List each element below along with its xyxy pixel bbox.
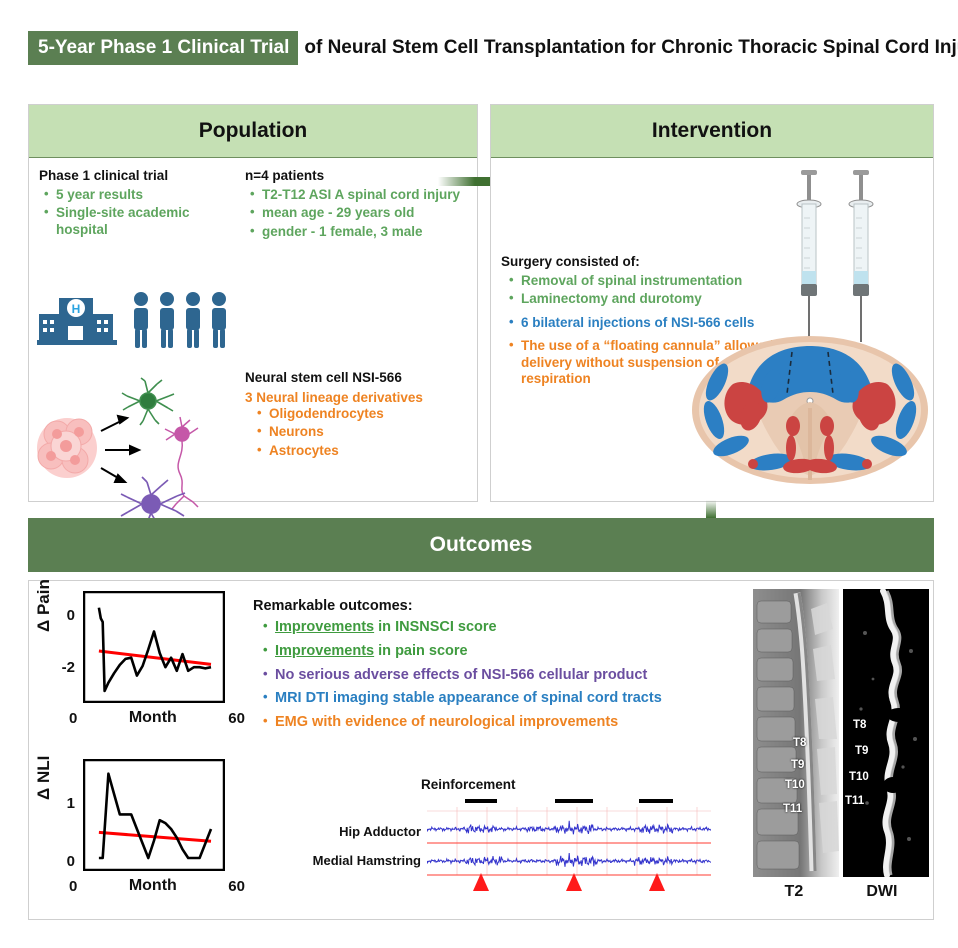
t2-level-T8: T8 bbox=[793, 737, 806, 749]
title-remainder: of Neural Stem Cell Transplantation for … bbox=[298, 38, 958, 58]
delta-pain-ytick-0: 0 bbox=[49, 607, 75, 624]
delta-nli-xtick-0: 0 bbox=[69, 878, 77, 895]
syringe-icon bbox=[771, 166, 901, 346]
outcomes-text-block: Remarkable outcomes: Improvements in INS… bbox=[253, 597, 713, 734]
delta-nli-xtick-1: 60 bbox=[228, 878, 245, 895]
list-item: Single-site academic hospital bbox=[56, 205, 237, 240]
population-panel: Population Phase 1 clinical trial 5 year… bbox=[28, 104, 478, 502]
stem-cell-bullets: Oligodendrocytes Neurons Astrocytes bbox=[245, 406, 471, 461]
stem-cell-heading: Neural stem cell NSI-566 bbox=[245, 370, 471, 387]
outcome-rest-1: in pain score bbox=[374, 643, 467, 659]
graphical-abstract: 5-Year Phase 1 Clinical Trial of Neural … bbox=[0, 0, 958, 948]
emg-trace-svg bbox=[427, 799, 711, 891]
list-item: Laminectomy and durotomy bbox=[521, 291, 791, 309]
outcome-underline-0: Improvements bbox=[275, 619, 374, 635]
figure-title: 5-Year Phase 1 Clinical Trial of Neural … bbox=[28, 28, 934, 68]
list-item: MRI DTI imaging stable appearance of spi… bbox=[275, 690, 713, 710]
list-item: Removal of spinal instrumentation bbox=[521, 273, 791, 291]
delta-nli-plot-area bbox=[83, 759, 225, 871]
t2-level-T9: T9 bbox=[791, 759, 804, 771]
cord-cross-section bbox=[687, 330, 933, 498]
spinal-cord-cross-section-illustration bbox=[687, 330, 933, 498]
intervention-panel: Intervention Surgery consisted of: Remov… bbox=[490, 104, 934, 502]
stem-cell-text-block: Neural stem cell NSI-566 3 Neural lineag… bbox=[245, 370, 471, 461]
emg-traces bbox=[427, 799, 711, 891]
delta-nli-chart: Δ NLI 1 0 bbox=[35, 753, 251, 913]
oligodendrocyte-icon bbox=[122, 378, 174, 425]
list-item: Improvements in INSNSCI score bbox=[275, 619, 713, 639]
delta-nli-xaxis: 0 Month 60 bbox=[69, 873, 245, 899]
list-item: 5 year results bbox=[56, 187, 237, 205]
delta-pain-chart: Δ Pain 0 -2 bbox=[35, 585, 251, 745]
outcome-charts-column: Δ Pain 0 -2 bbox=[35, 585, 251, 915]
reinforcement-bars bbox=[465, 799, 673, 803]
stem-cell-subheading: 3 Neural lineage derivatives bbox=[245, 390, 471, 405]
outcome-underline-1: Improvements bbox=[275, 643, 374, 659]
mri-captions: T2 DWI bbox=[753, 879, 929, 905]
delta-pain-xaxis: 0 Month 60 bbox=[69, 705, 245, 731]
emg-title: Reinforcement bbox=[421, 777, 516, 792]
emg-channel-label-1: Medial Hamstring bbox=[291, 853, 421, 868]
mri-caption-t2: T2 bbox=[785, 883, 804, 901]
list-item: EMG with evidence of neurological improv… bbox=[275, 714, 713, 734]
patient-figure-icon bbox=[134, 292, 226, 348]
mri-dwi-image: T8 T9 T10 T11 bbox=[843, 589, 929, 877]
list-item: Astrocytes bbox=[269, 443, 471, 461]
delta-pain-ytick-1: -2 bbox=[49, 659, 75, 676]
population-trial-column: Phase 1 clinical trial 5 year results Si… bbox=[39, 168, 237, 240]
delta-pain-plot-area bbox=[83, 591, 225, 703]
surgery-heading: Surgery consisted of: bbox=[501, 254, 791, 271]
emg-panel: Reinforcement Hip Adductor Medial Hamstr… bbox=[291, 777, 711, 917]
delta-pain-svg bbox=[83, 591, 225, 703]
mri-images: T8 T9 T10 T11 bbox=[753, 589, 929, 877]
delta-pain-xtick-0: 0 bbox=[69, 710, 77, 727]
outcome-rest-0: in INSNSCI score bbox=[374, 619, 496, 635]
mri-caption-dwi: DWI bbox=[866, 883, 897, 901]
intervention-header: Intervention bbox=[491, 105, 933, 158]
outcomes-panel: Δ Pain 0 -2 bbox=[28, 580, 934, 920]
title-badge: 5-Year Phase 1 Clinical Trial bbox=[28, 31, 298, 65]
intervention-body: Surgery consisted of: Removal of spinal … bbox=[491, 158, 933, 502]
outcomes-bullets: Improvements in INSNSCI score Improvemen… bbox=[253, 619, 713, 733]
population-body: Phase 1 clinical trial 5 year results Si… bbox=[29, 158, 477, 502]
dwi-level-T8: T8 bbox=[853, 719, 866, 731]
list-item: gender - 1 female, 3 male bbox=[262, 224, 471, 242]
dwi-level-T11: T11 bbox=[845, 795, 864, 807]
dwi-level-T10: T10 bbox=[849, 771, 869, 783]
delta-nli-ytick-0: 1 bbox=[49, 795, 75, 812]
lineage-arrows bbox=[101, 416, 139, 482]
outcomes-header: Outcomes bbox=[430, 533, 533, 557]
syringe-pair bbox=[771, 166, 901, 346]
emg-channel-label-0: Hip Adductor bbox=[291, 824, 421, 839]
delta-pain-xtick-1: 60 bbox=[228, 710, 245, 727]
delta-nli-svg bbox=[83, 759, 225, 871]
list-item: Oligodendrocytes bbox=[269, 406, 471, 424]
outcomes-body: Δ Pain 0 -2 bbox=[29, 581, 933, 919]
delta-nli-xlabel: Month bbox=[129, 877, 177, 895]
list-item: Neurons bbox=[269, 424, 471, 442]
mri-panel: T8 T9 T10 T11 bbox=[753, 589, 929, 911]
list-item: Improvements in pain score bbox=[275, 643, 713, 663]
trial-heading: Phase 1 clinical trial bbox=[39, 168, 237, 185]
outcomes-heading: Remarkable outcomes: bbox=[253, 597, 713, 615]
stem-cell-cluster bbox=[37, 418, 97, 478]
dwi-sagittal-svg bbox=[843, 589, 929, 877]
mri-t2-image: T8 T9 T10 T11 bbox=[753, 589, 839, 877]
emg-grid bbox=[427, 807, 711, 875]
delta-pain-xlabel: Month bbox=[129, 709, 177, 727]
svg-text:H: H bbox=[72, 302, 81, 316]
emg-marker-arrow bbox=[473, 873, 665, 891]
t2-level-T11: T11 bbox=[783, 803, 802, 815]
list-item: No serious adverse effects of NSI-566 ce… bbox=[275, 667, 713, 687]
stem-cell-lineage-diagram bbox=[35, 376, 245, 496]
t2-sagittal-svg bbox=[753, 589, 839, 877]
dwi-level-T9: T9 bbox=[855, 745, 868, 757]
population-header: Population bbox=[29, 105, 477, 158]
list-item: mean age - 29 years old bbox=[262, 205, 471, 223]
t2-level-T10: T10 bbox=[785, 779, 805, 791]
trial-bullets: 5 year results Single-site academic hosp… bbox=[39, 187, 237, 240]
outcomes-header-band: Outcomes bbox=[28, 518, 934, 572]
delta-nli-ytick-1: 0 bbox=[49, 853, 75, 870]
hospital-icon: H bbox=[37, 286, 243, 348]
hospital-and-patients-icons: H bbox=[37, 286, 243, 348]
